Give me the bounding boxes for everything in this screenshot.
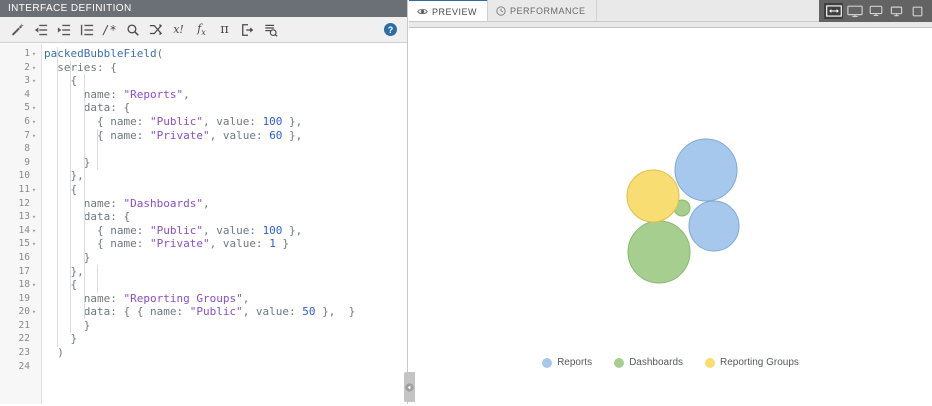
code-line[interactable]: { [44,74,407,88]
fold-arrow-icon[interactable]: ▾ [30,225,38,239]
chart-preview-canvas: ReportsDashboardsReporting Groups [409,29,932,406]
legend-dot-icon [542,358,552,368]
code-token: { name: [44,129,150,142]
code-token: 100 [263,115,283,128]
code-token: name: [44,292,123,305]
code-line[interactable]: { name: "Private", value: 60 }, [44,129,407,143]
code-token: { name: [44,115,150,128]
format-code-icon[interactable] [6,19,29,41]
code-token: name: [44,88,123,101]
responsive-width-icon[interactable] [824,3,843,19]
code-line[interactable]: data: { [44,101,407,115]
packed-bubble-chart [409,29,932,359]
code-token: , [203,197,210,210]
fold-arrow-icon[interactable]: ▾ [30,279,38,293]
bubble[interactable] [627,170,679,222]
code-line[interactable]: { name: "Public", value: 100 }, [44,115,407,129]
right-panel: PREVIEW PERFORMANCE [409,0,932,406]
legend-dot-icon [614,358,624,368]
code-line[interactable]: { name: "Public", value: 100 }, [44,224,407,238]
code-token: 60 [269,129,282,142]
code-line[interactable]: data: { [44,210,407,224]
fold-arrow-icon[interactable]: ▾ [30,211,38,225]
code-token: 50 [302,305,315,318]
help-icon[interactable]: ? [384,23,397,36]
code-token: "Reporting Groups" [123,292,242,305]
code-token: } [44,319,90,332]
code-token: } [44,332,77,345]
line-number: 24 [0,360,41,374]
fold-arrow-icon[interactable]: ▾ [30,75,38,89]
code-line[interactable]: } [44,332,407,346]
code-content[interactable]: packedBubbleField( series: { { name: "Re… [42,44,407,406]
code-line[interactable]: { [44,278,407,292]
code-token: }, [44,265,84,278]
fold-arrow-icon[interactable]: ▾ [30,48,38,62]
preview-ruler [409,22,932,28]
code-token: packedBubbleField [44,47,157,60]
chevron-left-icon [405,383,414,392]
code-token: data: { [44,210,130,223]
code-token: "Public" [190,305,243,318]
code-token: { [44,74,77,87]
code-token: }, [282,224,302,237]
code-token: "Reports" [123,88,183,101]
inspect-icon[interactable] [259,19,282,41]
code-token: ( [157,47,164,60]
left-panel: INTERFACE DEFINITION [0,0,408,406]
pi-icon[interactable]: π [213,19,236,41]
line-number: 13▾ [0,210,41,224]
tab-preview-label: PREVIEW [432,7,477,17]
outdent-icon[interactable] [29,19,52,41]
code-token: }, } [316,305,356,318]
line-number: 23 [0,346,41,360]
line-number: 19 [0,292,41,306]
code-token: , value: [243,305,303,318]
code-line[interactable]: } [44,251,407,265]
legend-label: Dashboards [629,357,683,368]
tablet-icon[interactable] [908,3,927,19]
tab-performance[interactable]: PERFORMANCE [488,0,597,21]
code-token: ) [44,346,64,359]
code-token: } [276,237,289,250]
align-icon[interactable] [75,19,98,41]
code-token: series: { [44,61,117,74]
code-line[interactable]: } [44,156,407,170]
editor-toolbar: /* x! fx [0,17,407,43]
search-icon[interactable] [121,19,144,41]
legend-item[interactable]: Reports [542,357,592,368]
code-line[interactable]: }, [44,169,407,183]
function-icon[interactable]: fx [190,19,213,41]
code-token: }, [282,115,302,128]
code-token: name: [44,197,123,210]
line-number-gutter: 1▾2▾3▾45▾6▾7▾891011▾1213▾14▾15▾161718▾19… [0,44,42,406]
panel-header: INTERFACE DEFINITION [0,0,407,17]
line-number: 17 [0,265,41,279]
tab-performance-label: PERFORMANCE [510,6,586,16]
fold-arrow-icon[interactable]: ▾ [30,62,38,76]
fold-arrow-icon[interactable]: ▾ [30,102,38,116]
code-line[interactable]: } [44,319,407,333]
code-token: data: { [44,101,130,114]
line-number: 11▾ [0,183,41,197]
fold-arrow-icon[interactable]: ▾ [30,306,38,320]
code-editor[interactable]: 1▾2▾3▾45▾6▾7▾891011▾1213▾14▾15▾161718▾19… [0,44,407,406]
code-token: } [44,156,90,169]
legend-item[interactable]: Reporting Groups [705,357,799,368]
line-number: 22 [0,332,41,346]
comment-icon[interactable]: /* [98,19,121,41]
code-token: "Private" [150,237,210,250]
line-number: 14▾ [0,224,41,238]
legend-dot-icon [705,358,715,368]
bubble[interactable] [689,201,739,251]
panel-collapse-handle[interactable] [404,372,415,402]
code-token: , [183,88,190,101]
code-line[interactable] [44,142,407,156]
line-number: 16 [0,251,41,265]
line-number: 1▾ [0,47,41,61]
shuffle-icon[interactable] [144,19,167,41]
bubble[interactable] [628,221,690,283]
code-token: }, [44,169,84,182]
code-token: , value: [210,237,270,250]
clock-icon [496,6,506,16]
code-token: { [44,183,77,196]
preview-tabbar: PREVIEW PERFORMANCE [409,0,932,22]
line-number: 18▾ [0,278,41,292]
line-number: 21 [0,319,41,333]
chart-legend: ReportsDashboardsReporting Groups [409,357,932,368]
code-line[interactable]: name: "Reporting Groups", [44,292,407,306]
device-size-toolbar [819,0,932,22]
desktop-large-icon[interactable] [845,3,864,19]
desktop-small-icon[interactable] [887,3,906,19]
line-number: 7▾ [0,129,41,143]
code-line[interactable]: name: "Dashboards", [44,197,407,211]
panel-title: INTERFACE DEFINITION [8,3,132,14]
eye-icon [417,7,428,16]
code-token: { name: [44,224,150,237]
line-number: 8 [0,142,41,156]
line-number: 10 [0,169,41,183]
code-line[interactable]: series: { [44,61,407,75]
code-token: "Public" [150,224,203,237]
code-line[interactable]: }, [44,265,407,279]
desktop-medium-icon[interactable] [866,3,885,19]
code-token: , value: [203,115,263,128]
code-token: , [243,292,250,305]
line-number: 15▾ [0,237,41,251]
indent-icon[interactable] [52,19,75,41]
code-token: 1 [269,237,276,250]
code-token: "Dashboards" [123,197,202,210]
fold-arrow-icon[interactable]: ▾ [30,116,38,130]
fold-arrow-icon[interactable]: ▾ [30,184,38,198]
code-token: , value: [203,224,263,237]
line-number: 5▾ [0,101,41,115]
code-token: "Public" [150,115,203,128]
bubble[interactable] [675,139,737,201]
code-token: "Private" [150,129,210,142]
code-line[interactable]: ) [44,346,407,360]
fold-arrow-icon[interactable]: ▾ [30,130,38,144]
code-token: } [44,251,90,264]
code-token: }, [282,129,302,142]
code-line[interactable]: packedBubbleField( [44,47,407,61]
code-line[interactable]: name: "Reports", [44,88,407,102]
line-number: 6▾ [0,115,41,129]
export-icon[interactable] [236,19,259,41]
fold-arrow-icon[interactable]: ▾ [30,238,38,252]
code-line[interactable]: { name: "Private", value: 1 } [44,237,407,251]
code-token: 100 [263,224,283,237]
code-token: { [44,278,77,291]
code-token: data: { { name: [44,305,190,318]
code-token: , value: [210,129,270,142]
code-line[interactable] [44,360,407,374]
tab-preview[interactable]: PREVIEW [409,0,488,21]
line-number: 12 [0,197,41,211]
line-number: 3▾ [0,74,41,88]
legend-label: Reporting Groups [720,357,799,368]
line-number: 4 [0,88,41,102]
legend-label: Reports [557,357,592,368]
line-number: 20▾ [0,305,41,319]
line-number: 9 [0,156,41,170]
code-token: { name: [44,237,150,250]
variable-icon[interactable]: x! [167,19,190,41]
line-number: 2▾ [0,61,41,75]
code-line[interactable]: data: { { name: "Public", value: 50 }, } [44,305,407,319]
legend-item[interactable]: Dashboards [614,357,683,368]
interface-definition-app: INTERFACE DEFINITION [0,0,932,406]
code-line[interactable]: { [44,183,407,197]
